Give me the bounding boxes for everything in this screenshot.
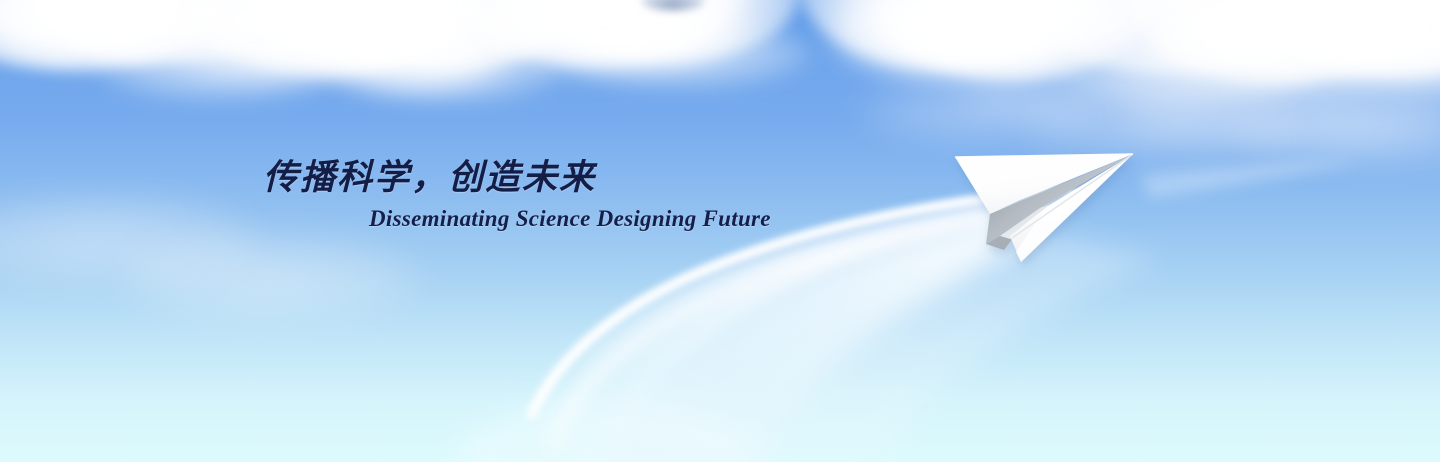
headline-english: Disseminating Science Designing Future [369, 206, 771, 232]
headline-chinese: 传播科学，创造未来 [263, 149, 596, 200]
sky-banner: 传播科学，创造未来 Disseminating Science Designin… [0, 0, 1440, 462]
